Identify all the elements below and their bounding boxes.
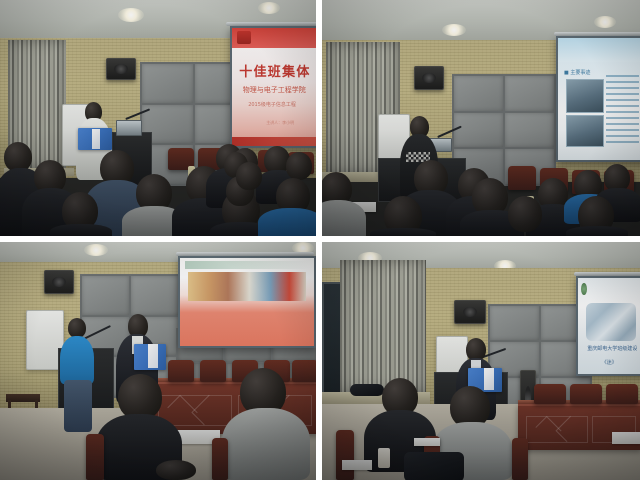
folder-page — [484, 368, 494, 390]
photo-panel-top-left: 十佳班集体 物理与电子工程学院 2015级电子信息工程 主讲人：李小明 — [0, 0, 316, 236]
slide-grey-title: 重庆邮电大学班级建设 《迷》 — [578, 278, 640, 374]
audience-head — [286, 152, 312, 180]
laptop — [116, 120, 142, 136]
ceiling-downlight — [442, 24, 466, 36]
ceiling-downlight — [84, 244, 108, 256]
slide-footer-band — [232, 137, 316, 146]
projection-screen-tr: ■ 主要事迹 — [556, 36, 640, 162]
folder-page — [92, 129, 100, 149]
slide-photo-collage — [180, 258, 314, 346]
desk-paper — [342, 460, 372, 470]
lecture-room-scene-tl: 十佳班集体 物理与电子工程学院 2015级电子信息工程 主讲人：李小明 — [0, 0, 316, 236]
backpack — [404, 452, 464, 480]
wall-speaker-icon — [106, 58, 136, 80]
audience-chair — [570, 384, 602, 404]
slide-bullet: ■ 主要事迹 — [564, 69, 590, 76]
photo-collage: 十佳班集体 物理与电子工程学院 2015级电子信息工程 主讲人：李小明 — [0, 0, 640, 480]
slide-topbar — [558, 38, 640, 62]
desk-paper — [612, 432, 640, 444]
photo-panel-top-right: ■ 主要事迹 — [322, 0, 640, 236]
audience-head — [508, 196, 542, 232]
photo-panel-bottom-right: 重庆邮电大学班级建设 《迷》 — [322, 242, 640, 480]
slide-line2: 物理与电子工程学院 — [243, 85, 316, 95]
slide-photo-strip — [188, 272, 306, 301]
projection-screen-br: 重庆邮电大学班级建设 《迷》 — [576, 276, 640, 376]
window-curtain — [340, 260, 426, 394]
slide-line4: 主讲人：李小明 — [266, 120, 316, 126]
wooden-stool — [6, 394, 40, 402]
slide-title: 十佳班集体 — [239, 61, 316, 80]
paper-cup — [378, 448, 390, 468]
photo-panel-bottom-left — [0, 242, 316, 480]
audience-body — [370, 228, 436, 236]
audience-body — [566, 226, 628, 236]
slide-text-column — [606, 75, 639, 146]
lecture-room-scene-bl — [0, 242, 316, 480]
university-crest-icon — [581, 283, 587, 295]
projection-screen-tl: 十佳班集体 物理与电子工程学院 2015级电子信息工程 主讲人：李小明 — [230, 26, 316, 148]
audience-chair — [512, 438, 528, 480]
audience-chair — [508, 166, 536, 190]
audience-chair — [212, 438, 228, 480]
wall-speaker-icon — [414, 66, 444, 90]
audience-body — [322, 200, 366, 236]
audience-chair — [86, 434, 104, 480]
slide-blue-content: ■ 主要事迹 — [558, 38, 640, 160]
ceiling-downlight — [594, 16, 616, 28]
slide-line3: 2015级电子信息工程 — [248, 101, 316, 108]
audience-chair — [606, 384, 638, 404]
audience-body — [258, 208, 316, 236]
audience-chair — [168, 360, 194, 382]
audience-chair — [292, 360, 316, 382]
audience-head — [236, 162, 262, 190]
audience-body — [222, 408, 310, 480]
slide-photo-1 — [566, 79, 604, 113]
wall-speaker-icon — [44, 270, 74, 294]
slide-header — [185, 261, 308, 269]
lecture-room-scene-tr: ■ 主要事迹 — [322, 0, 640, 236]
slide-red-title: 十佳班集体 物理与电子工程学院 2015级电子信息工程 主讲人：李小明 — [232, 28, 316, 146]
ceiling-downlight — [118, 8, 144, 22]
operator-jeans — [64, 380, 92, 432]
folder-page — [148, 344, 158, 368]
lecture-room-scene-br: 重庆邮电大学班级建设 《迷》 — [322, 242, 640, 480]
university-crest-icon — [237, 31, 251, 44]
slide-photo-2 — [566, 115, 604, 148]
wall-speaker-icon — [454, 300, 486, 324]
bag-on-sill — [350, 384, 384, 396]
audience-chair — [200, 360, 226, 382]
slide-org-name — [589, 284, 591, 291]
operator-hoodie — [60, 336, 94, 384]
audience-body — [50, 224, 112, 236]
slide-hero-image — [586, 303, 636, 341]
desk-paper — [414, 438, 440, 446]
audience-head — [156, 460, 196, 480]
slide-subtitle: 《迷》 — [602, 359, 617, 366]
operator-head — [68, 318, 86, 338]
projection-screen-bl — [178, 256, 316, 348]
slide-title-line: 重庆邮电大学班级建设 — [587, 345, 637, 352]
audience-chair — [336, 430, 354, 480]
ceiling-downlight — [258, 2, 280, 14]
audience-chair — [534, 384, 566, 404]
